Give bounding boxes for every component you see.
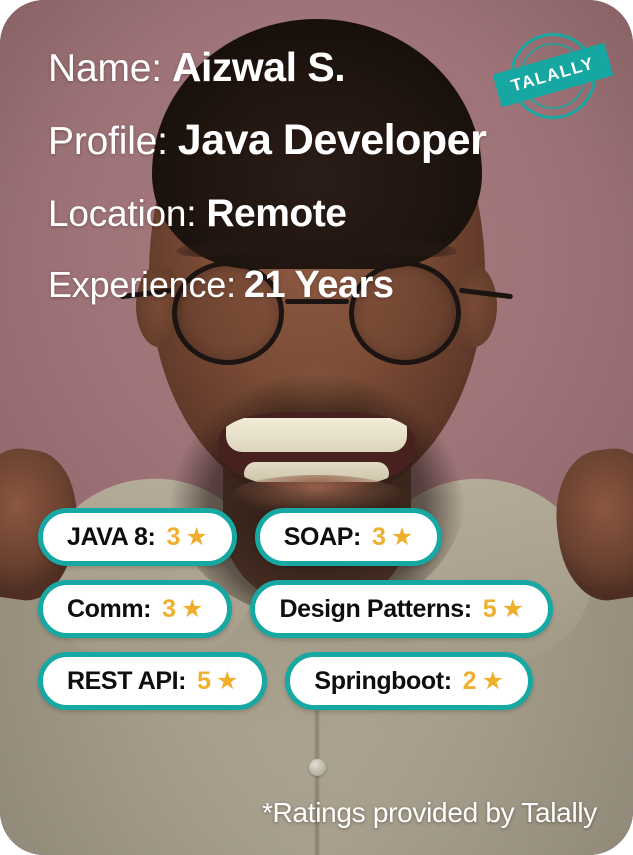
skill-pill-design-patterns[interactable]: Design Patterns: 5 ★ (250, 580, 553, 638)
skill-pill-springboot[interactable]: Springboot: 2 ★ (285, 652, 533, 710)
star-icon: ★ (216, 669, 238, 694)
info-label-location: Location: (48, 193, 196, 235)
candidate-profile-card: TALALLY Name: Aizwal S. Profile: Java De… (0, 0, 633, 855)
info-label-name: Name: (48, 47, 162, 91)
info-row-name: Name: Aizwal S. (48, 44, 585, 98)
info-label-experience: Experience: (48, 264, 236, 306)
skill-pill-comm[interactable]: Comm: 3 ★ (38, 580, 232, 638)
skill-pill-rest-api[interactable]: REST API: 5 ★ (38, 652, 267, 710)
skill-name: Comm: (67, 595, 151, 624)
skill-row: JAVA 8: 3 ★ SOAP: 3 ★ (38, 508, 633, 566)
info-value-location: Remote (206, 192, 346, 236)
skill-name: REST API: (67, 667, 186, 696)
info-value-name: Aizwal S. (172, 44, 345, 91)
skill-name: Design Patterns: (279, 595, 471, 624)
info-label-profile: Profile: (48, 120, 168, 164)
skill-name: JAVA 8: (67, 523, 155, 552)
skill-score: 3 (166, 523, 180, 552)
info-value-experience: 21 Years (244, 264, 394, 307)
star-icon: ★ (391, 525, 413, 550)
skill-rating-list: JAVA 8: 3 ★ SOAP: 3 ★ Comm: 3 ★ Design P… (0, 508, 633, 710)
skill-name: Springboot: (314, 667, 451, 696)
skill-name: SOAP: (284, 523, 361, 552)
info-row-location: Location: Remote (48, 192, 585, 244)
skill-pill-soap[interactable]: SOAP: 3 ★ (255, 508, 443, 566)
skill-score: 3 (372, 523, 386, 552)
skill-score: 5 (483, 595, 497, 624)
star-icon: ★ (181, 597, 203, 622)
star-icon: ★ (185, 525, 207, 550)
skill-score: 2 (463, 667, 477, 696)
star-icon: ★ (502, 597, 524, 622)
ratings-disclaimer: *Ratings provided by Talally (262, 797, 597, 829)
candidate-info-block: Name: Aizwal S. Profile: Java Developer … (48, 44, 585, 316)
skill-row: REST API: 5 ★ Springboot: 2 ★ (38, 652, 633, 710)
skill-score: 5 (197, 667, 211, 696)
skill-pill-java-8[interactable]: JAVA 8: 3 ★ (38, 508, 237, 566)
skill-row: Comm: 3 ★ Design Patterns: 5 ★ (38, 580, 633, 638)
info-row-profile: Profile: Java Developer (48, 116, 585, 174)
info-row-experience: Experience: 21 Years (48, 264, 585, 316)
info-value-profile: Java Developer (178, 116, 487, 165)
star-icon: ★ (482, 669, 504, 694)
skill-score: 3 (162, 595, 176, 624)
